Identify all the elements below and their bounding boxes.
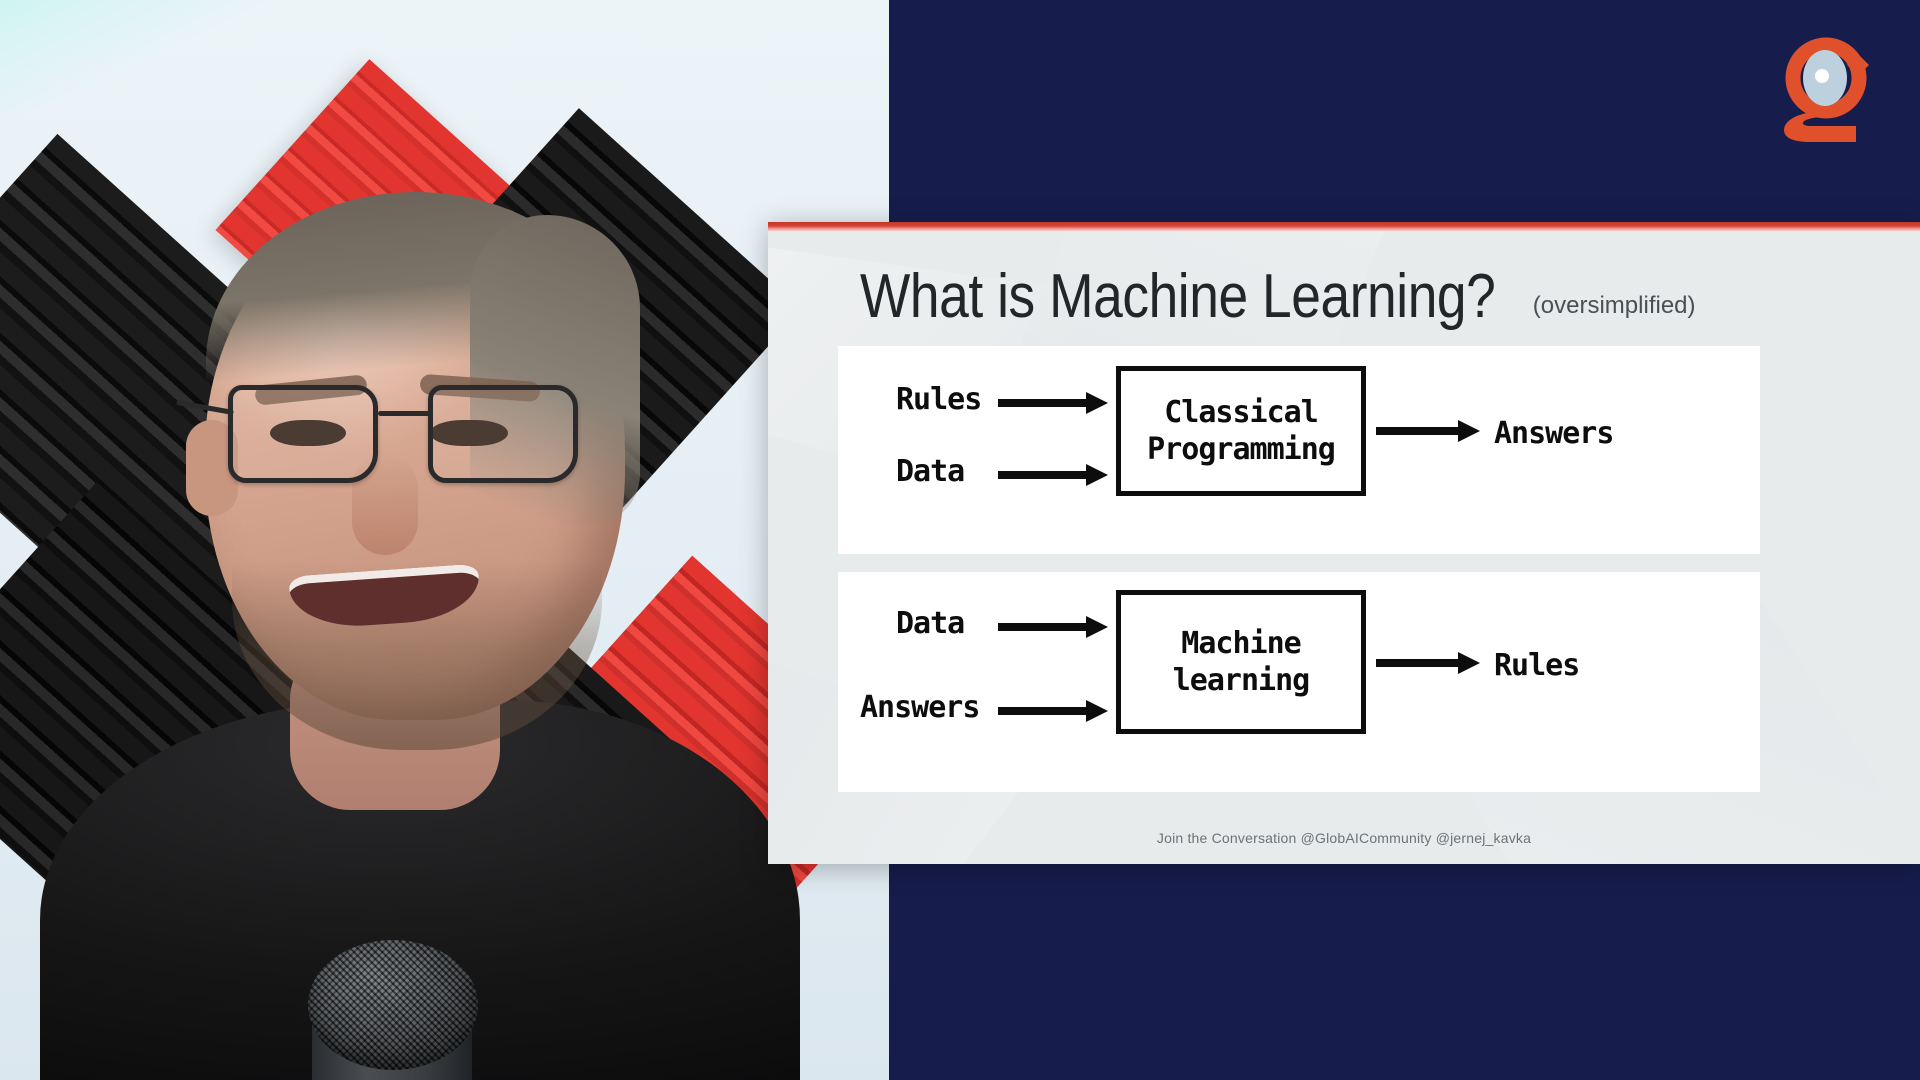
speaker-webcam-feed[interactable] bbox=[0, 0, 889, 1080]
diagram-input-label: Answers bbox=[860, 690, 979, 725]
global-ai-community-logo bbox=[1770, 34, 1874, 144]
arrow-icon bbox=[1376, 420, 1480, 442]
diagram-output-label: Rules bbox=[1494, 648, 1579, 683]
arrow-icon bbox=[1376, 652, 1480, 674]
diagram-process-box: Machine learning bbox=[1116, 590, 1366, 734]
diagram-process-box: Classical Programming bbox=[1116, 366, 1366, 496]
diagram-box-line: Machine bbox=[1181, 626, 1300, 661]
diagram-input-label: Rules bbox=[896, 382, 981, 417]
arrow-icon bbox=[998, 464, 1108, 486]
presenter bbox=[0, 0, 889, 1080]
slide-title: What is Machine Learning? bbox=[860, 266, 1495, 328]
glasses-lens-left bbox=[228, 385, 378, 483]
diagram-box-line: Programming bbox=[1147, 432, 1335, 467]
screen-root: What is Machine Learning? (oversimplifie… bbox=[0, 0, 1920, 1080]
diagram-panel-classical-programming: Rules Data Classical Programming bbox=[838, 346, 1760, 554]
microphone-grille bbox=[308, 940, 478, 1070]
arrow-icon bbox=[998, 700, 1108, 722]
slide-accent-bar bbox=[768, 222, 1920, 231]
diagram-input-label: Data bbox=[896, 606, 964, 641]
slide-subtitle: (oversimplified) bbox=[1533, 292, 1696, 320]
glasses-lens-right bbox=[428, 385, 578, 483]
presentation-slide[interactable]: What is Machine Learning? (oversimplifie… bbox=[768, 222, 1920, 864]
glasses-bridge bbox=[378, 411, 430, 416]
diagram-box-line: Classical bbox=[1164, 395, 1318, 430]
arrow-icon bbox=[998, 616, 1108, 638]
diagram-input-label: Data bbox=[896, 454, 964, 489]
glasses-icon bbox=[228, 385, 588, 505]
slide-footer-text: Join the Conversation @GlobAICommunity @… bbox=[768, 830, 1920, 846]
arrow-icon bbox=[998, 392, 1108, 414]
diagram-box-line: learning bbox=[1173, 663, 1310, 698]
diagram-output-label: Answers bbox=[1494, 416, 1613, 451]
diagram-panel-machine-learning: Data Answers Machine learning bbox=[838, 572, 1760, 792]
slide-heading-row: What is Machine Learning? (oversimplifie… bbox=[860, 266, 1776, 328]
